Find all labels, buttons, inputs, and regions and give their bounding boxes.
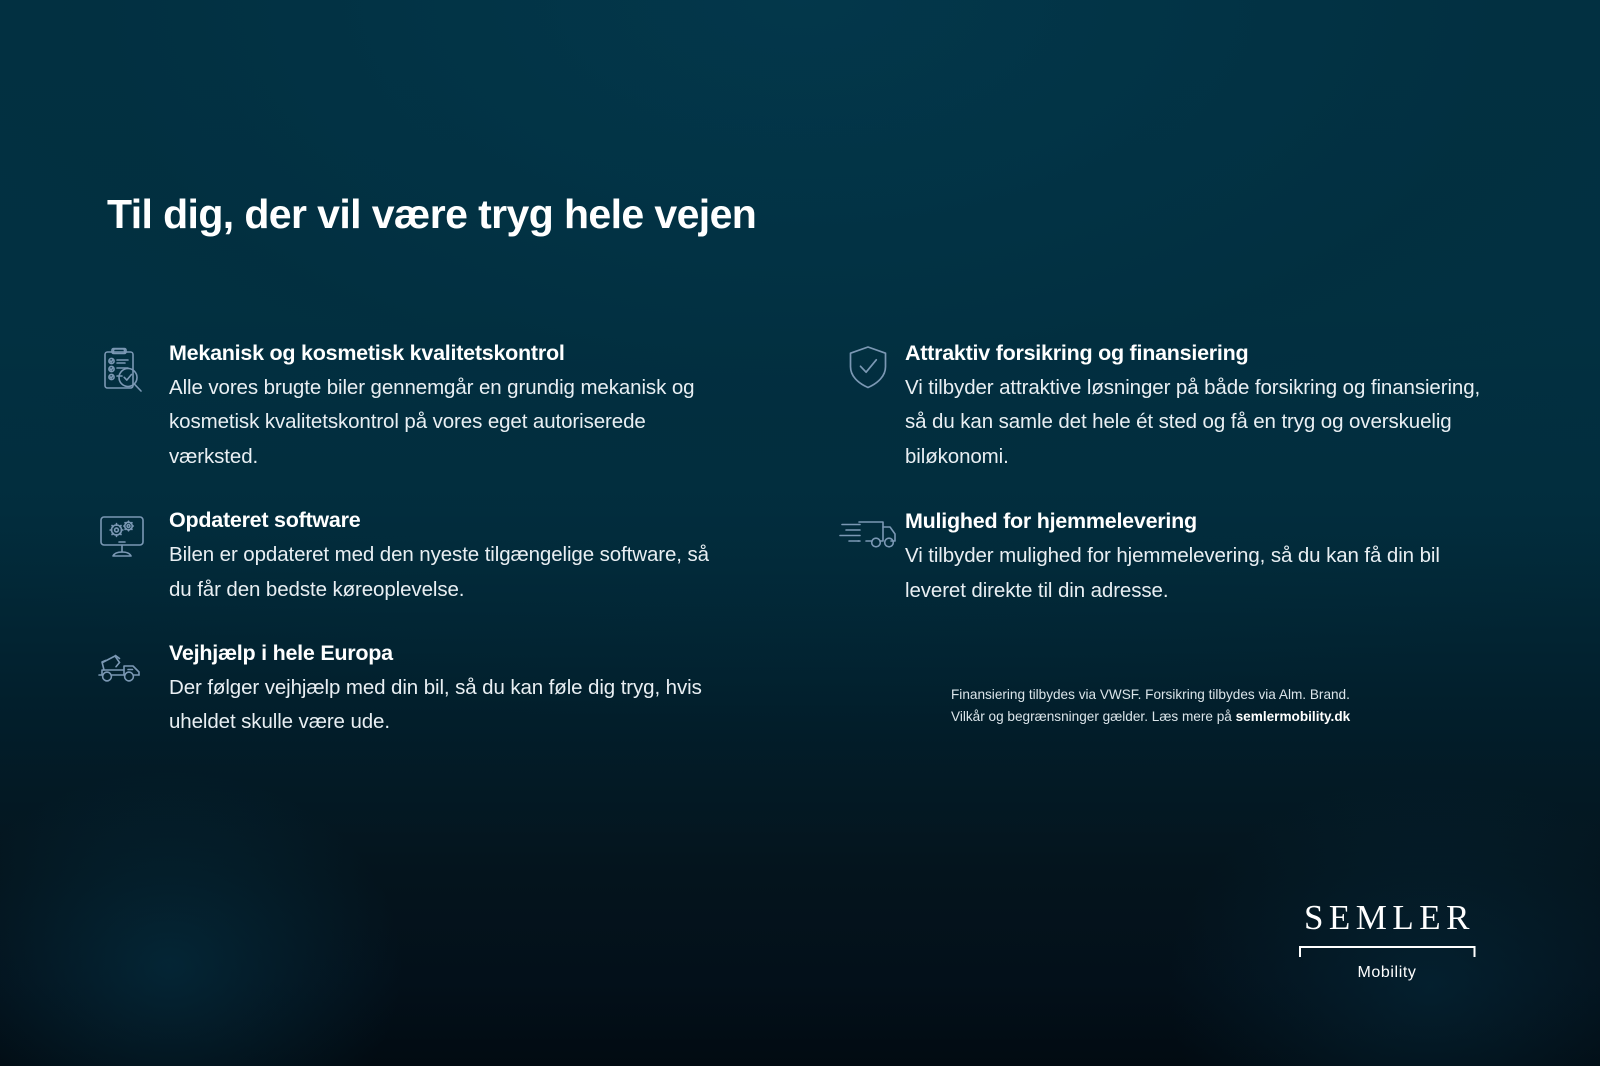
page-title: Til dig, der vil være tryg hele vejen: [107, 190, 756, 239]
shield-check-icon: [831, 340, 905, 404]
delivery-truck-icon: [831, 508, 905, 572]
semler-mobility-logo: SEMLER Mobility: [1282, 900, 1492, 982]
feature-body: Der følger vejhjælp med din bil, så du k…: [169, 671, 709, 740]
monitor-gears-icon: [95, 507, 169, 573]
feature-column-left: Mekanisk og kosmetisk kvalitetskontrol A…: [95, 340, 779, 740]
disclaimer-line-2-prefix: Vilkår og begrænsninger gælder. Læs mere…: [951, 709, 1236, 724]
feature-title: Vejhjælp i hele Europa: [169, 640, 779, 667]
feature-item: Mulighed for hjemmelevering Vi tilbyder …: [831, 508, 1515, 608]
logo-wordmark: SEMLER: [1282, 900, 1492, 935]
tow-truck-icon: [95, 640, 169, 706]
feature-title: Opdateret software: [169, 507, 779, 534]
feature-text: Vejhjælp i hele Europa Der følger vejhjæ…: [169, 640, 779, 740]
background-glow-left: [0, 706, 480, 1066]
feature-item: Vejhjælp i hele Europa Der følger vejhjæ…: [95, 640, 779, 740]
background-glow-right: [1080, 706, 1600, 1066]
feature-item: Mekanisk og kosmetisk kvalitetskontrol A…: [95, 340, 779, 474]
feature-text: Mulighed for hjemmelevering Vi tilbyder …: [905, 508, 1515, 608]
disclaimer-line-1: Finansiering tilbydes via VWSF. Forsikri…: [951, 684, 1515, 706]
logo-subtitle: Mobility: [1282, 964, 1492, 982]
disclaimer-line-2: Vilkår og begrænsninger gælder. Læs mere…: [951, 706, 1515, 728]
feature-title: Mulighed for hjemmelevering: [905, 508, 1515, 535]
feature-title: Mekanisk og kosmetisk kvalitetskontrol: [169, 340, 779, 367]
feature-columns: Mekanisk og kosmetisk kvalitetskontrol A…: [95, 340, 1515, 740]
feature-body: Vi tilbyder attraktive løsninger på både…: [905, 371, 1485, 474]
semlermobility-link[interactable]: semlermobility.dk: [1236, 709, 1351, 724]
feature-column-right: Attraktiv forsikring og finansiering Vi …: [825, 340, 1515, 740]
marketing-slide: Til dig, der vil være tryg hele vejen: [0, 0, 1600, 1066]
feature-text: Mekanisk og kosmetisk kvalitetskontrol A…: [169, 340, 779, 474]
disclaimer: Finansiering tilbydes via VWSF. Forsikri…: [831, 684, 1515, 728]
feature-text: Attraktiv forsikring og finansiering Vi …: [905, 340, 1515, 474]
feature-item: Attraktiv forsikring og finansiering Vi …: [831, 340, 1515, 474]
feature-body: Alle vores brugte biler gennemgår en gru…: [169, 371, 709, 474]
clipboard-check-magnifier-icon: [95, 340, 169, 406]
feature-title: Attraktiv forsikring og finansiering: [905, 340, 1515, 367]
feature-item: Opdateret software Bilen er opdateret me…: [95, 507, 779, 607]
feature-text: Opdateret software Bilen er opdateret me…: [169, 507, 779, 607]
feature-body: Vi tilbyder mulighed for hjemmelevering,…: [905, 539, 1485, 608]
logo-divider: [1299, 946, 1475, 957]
feature-body: Bilen er opdateret med den nyeste tilgæn…: [169, 538, 709, 607]
